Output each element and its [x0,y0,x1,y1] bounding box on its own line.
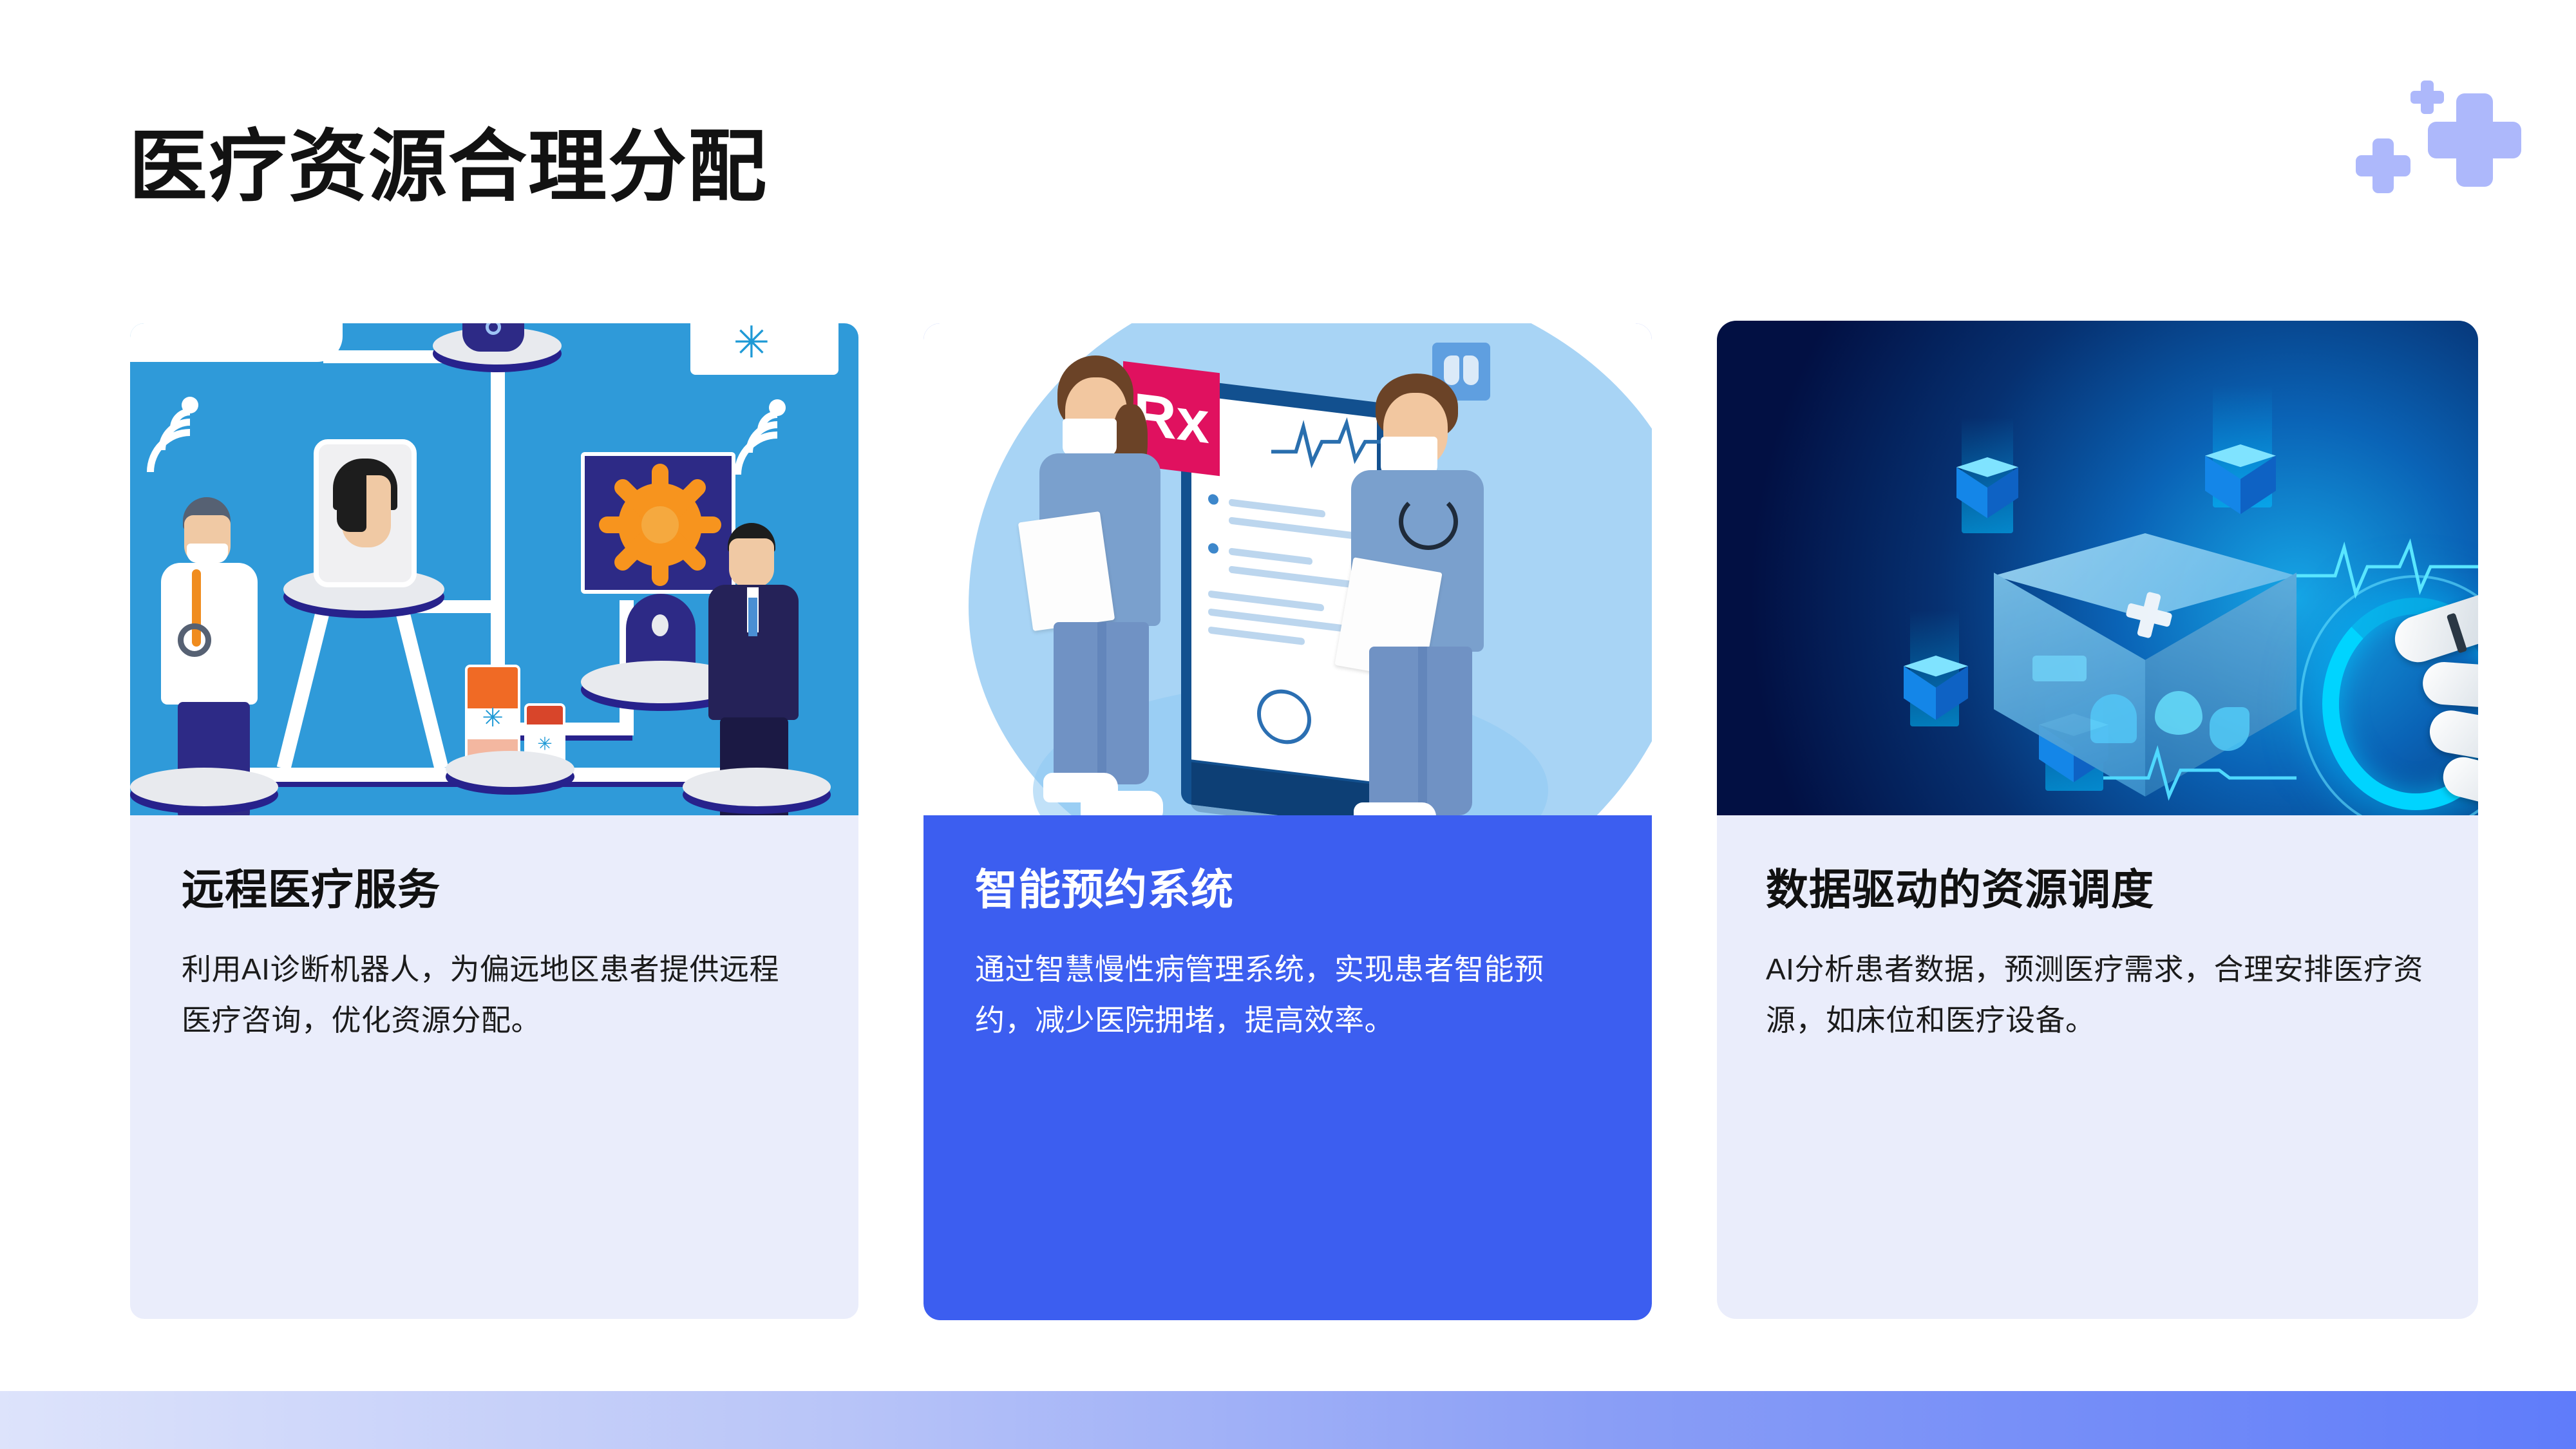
wifi-signal-icon [729,388,826,471]
nurse-female-figure [1020,355,1188,806]
ecg-wave-icon [2297,533,2478,604]
card-smart-appointment[interactable]: Rx [923,323,1652,1320]
card-telemedicine-image: ✳ [130,323,858,815]
card-data-scheduling[interactable]: 数据驱动的资源调度 AI分析患者数据，预测医疗需求，合理安排医疗资源，如床位和医… [1717,321,2478,1319]
medical-cross-large-icon [2428,93,2521,187]
nurse-male-figure [1336,374,1516,815]
white-cross-icon [2126,592,2172,638]
doctor-figure [149,497,278,787]
bottom-gradient-bar [0,1391,2576,1449]
medical-star-icon: ✳ [729,323,774,365]
page-title: 医疗资源合理分配 [129,121,768,214]
patient-video-tablet [314,439,417,587]
administrator-figure [697,523,813,793]
data-cube-icon [1956,457,2018,528]
card-title: 远程医疗服务 [182,866,807,914]
card-description: 通过智慧慢性病管理系统，实现患者智能预约，减少医院拥堵，提高效率。 [975,944,1600,1046]
medical-cross-medium-icon [2356,138,2410,193]
decorative-cross-cluster [2344,64,2550,258]
ecg-wave-icon [2103,739,2297,804]
card-title: 数据驱动的资源调度 [1766,866,2433,914]
wifi-signal-icon [142,385,238,469]
card-title: 智能预约系统 [975,866,1600,914]
card-description: AI分析患者数据，预测医疗需求，合理安排医疗资源，如床位和医疗设备。 [1766,944,2433,1046]
card-telemedicine[interactable]: ✳ [130,323,858,1319]
card-smart-appointment-image: Rx [923,323,1652,815]
data-cube-icon [1904,656,1968,730]
data-cube-icon [2205,444,2276,526]
card-data-scheduling-image [1717,321,2478,815]
card-description: 利用AI诊断机器人，为偏远地区患者提供远程医疗咨询，优化资源分配。 [182,944,807,1046]
robot-hand [2380,598,2478,815]
